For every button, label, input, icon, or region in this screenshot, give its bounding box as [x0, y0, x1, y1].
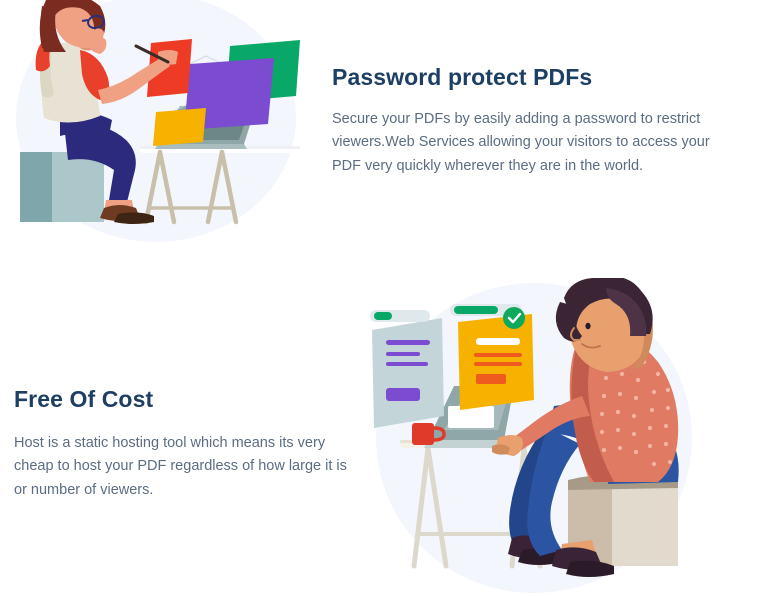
- free-of-cost-text-block: Free Of Cost Host is a static hosting to…: [14, 386, 359, 502]
- eye: [585, 323, 590, 329]
- coffee-mug: [412, 423, 434, 445]
- password-protect-text-block: Password protect PDFs Secure your PDFs b…: [332, 64, 732, 178]
- woman-organizing-documents-illustration: [8, 0, 320, 246]
- feature-body-free-of-cost: Host is a static hosting tool which mean…: [14, 432, 350, 502]
- check-badge-icon: [503, 307, 525, 329]
- feature-sections-page: Password protect PDFs Secure your PDFs b…: [0, 0, 766, 596]
- feature-title-free-of-cost: Free Of Cost: [14, 386, 359, 414]
- ui-card-grey: [372, 318, 444, 428]
- feature-title-password-protect: Password protect PDFs: [332, 64, 732, 92]
- document-card-yellow: [153, 108, 206, 146]
- feature-body-password-protect: Secure your PDFs by easily adding a pass…: [332, 108, 722, 178]
- man-working-on-laptop-illustration: [366, 278, 706, 596]
